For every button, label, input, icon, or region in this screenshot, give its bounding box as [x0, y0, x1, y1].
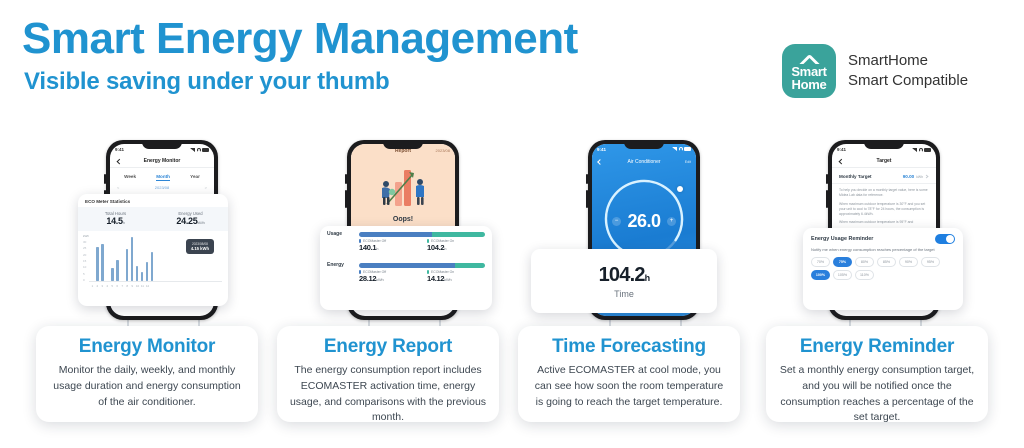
caption-card-energy-reminder: Energy Reminder Set a monthly energy con… — [766, 326, 988, 422]
dial-handle[interactable] — [677, 186, 683, 192]
chart-bar — [131, 237, 134, 281]
chart-y-tick: 15 — [83, 259, 86, 263]
energy-split-bar — [359, 263, 485, 268]
percentage-chip[interactable]: 105% — [833, 270, 852, 280]
chart-tooltip: 2023/08/08 4.15 kWh — [186, 239, 214, 254]
chart-bar — [101, 244, 104, 281]
kpi-total-hours: Total Hours 14.5h — [78, 207, 153, 231]
percentage-chip[interactable]: 75% — [833, 257, 852, 267]
legend-off: ECOMaster Off 140.1h — [359, 239, 417, 252]
caption-title: Energy Report — [289, 336, 487, 358]
bar-segment-off — [359, 263, 455, 268]
smarthome-logo-icon: Smart Home — [782, 44, 836, 98]
legend-value: 14.12kWh — [427, 274, 485, 283]
reminder-title: Energy Usage Reminder — [811, 236, 873, 242]
chart-x-label: 4 — [106, 284, 109, 288]
chart-x-label: 1 — [91, 284, 94, 288]
oops-heading: Oops! — [351, 216, 455, 223]
chart-x-label: 3 — [101, 284, 104, 288]
phone-notch — [864, 140, 904, 149]
chart-bar — [146, 262, 149, 281]
chart-y-tick: 25 — [83, 246, 86, 250]
percentage-chip[interactable]: 95% — [921, 257, 940, 267]
chart-bar — [136, 266, 139, 281]
temperature-value: 26.0 — [598, 211, 690, 232]
usage-legend: ECOMaster Off 140.1h ECOMaster On 104.2h — [320, 239, 492, 257]
reminder-description: Notify me when energy consumption reache… — [803, 247, 963, 257]
chart-x-label: 9 — [131, 284, 134, 288]
brand-lockup: Smart Home SmartHome Smart Compatible — [782, 44, 968, 98]
roof-chevron-icon — [793, 53, 825, 64]
signal-icon — [672, 147, 677, 151]
chart-bar — [126, 249, 129, 281]
percentage-chip[interactable]: 100% — [811, 270, 830, 280]
energy-row: Energy — [320, 257, 492, 270]
tooltip-value: 4.15 kWh — [191, 246, 209, 251]
nav-title: Air Conditioner — [627, 159, 660, 165]
time-forecast-card: 104.2h Time — [531, 249, 717, 313]
nav-bar: Energy Monitor — [110, 155, 214, 168]
status-time: 9:41 — [837, 147, 846, 152]
chevron-right-icon — [925, 174, 929, 179]
percentage-chip[interactable]: 110% — [855, 270, 874, 280]
legend-value: 140.1h — [359, 243, 417, 252]
legend-on: ECOMaster On 104.2h — [427, 239, 485, 252]
kpi-value: 14.5h — [78, 216, 153, 226]
status-time: 9:41 — [597, 147, 606, 152]
bar-segment-on — [455, 263, 485, 268]
chart-x-label: 11 — [141, 284, 144, 288]
brand-name-line-2: Smart Compatible — [848, 71, 968, 91]
wifi-icon — [197, 148, 201, 152]
period-segmented-control[interactable]: Week Month Year — [110, 168, 214, 184]
bar-segment-on — [432, 232, 485, 237]
chart-x-label: 8 — [126, 284, 129, 288]
status-indicators — [912, 148, 931, 152]
chart-bar — [116, 260, 119, 281]
legend-value: 104.2h — [427, 243, 485, 252]
segment-year[interactable]: Year — [190, 174, 200, 181]
chart-bar — [141, 272, 144, 281]
forecast-label: Time — [531, 289, 717, 299]
forecast-value: 104.2h — [531, 264, 717, 287]
infographic-canvas: Smart Energy Management Visible saving u… — [0, 0, 1024, 448]
reminder-toggle[interactable] — [935, 234, 955, 244]
kpi-row: Total Hours 14.5h Energy Used 24.25kWh — [78, 207, 228, 231]
page-subtitle: Visible saving under your thumb — [24, 68, 389, 96]
percentage-chip[interactable]: 80% — [855, 257, 874, 267]
phone-notch — [383, 140, 423, 149]
row-label: Usage — [327, 231, 353, 237]
nav-bar: Target — [832, 155, 936, 168]
card-title: ECO Meter Statistics — [78, 194, 228, 207]
edit-button[interactable]: Edit — [685, 160, 691, 164]
target-help-text: To help you decide on a monthly target v… — [832, 184, 936, 226]
battery-icon — [202, 148, 209, 152]
monthly-target-label: Monthly Target — [839, 174, 872, 179]
back-icon[interactable] — [117, 159, 123, 165]
phone-notch — [624, 140, 664, 149]
caption-text: Active ECOMASTER at cool mode, you can s… — [530, 363, 728, 410]
signal-icon — [190, 148, 195, 152]
caption-text: Monitor the daily, weekly, and monthly u… — [48, 363, 246, 410]
segment-month[interactable]: Month — [156, 174, 170, 181]
prev-period-button[interactable]: < — [117, 185, 119, 190]
caption-text: The energy consumption report includes E… — [289, 363, 487, 426]
logo-line-2: Home — [782, 77, 836, 92]
usage-bar-chart: kWh 2023/08/08 4.15 kWh 123456789101112 … — [78, 231, 228, 295]
help-paragraph: To help you decide on a monthly target v… — [839, 188, 929, 199]
chart-x-label: 5 — [111, 284, 114, 288]
page-title: Smart Energy Management — [22, 14, 578, 64]
wifi-icon — [679, 147, 683, 151]
chart-bar — [151, 252, 154, 281]
back-icon[interactable] — [839, 159, 845, 165]
kpi-value: 24.25kWh — [153, 216, 228, 226]
usage-split-bar — [359, 232, 485, 237]
chart-bar — [111, 268, 114, 281]
percentage-chip[interactable]: 70% — [811, 257, 830, 267]
energy-report-card: Usage ECOMaster Off 140.1h ECOMaster On … — [320, 226, 492, 310]
energy-legend: ECOMaster Off 28.12kWh ECOMaster On 14.1… — [320, 270, 492, 288]
chart-y-tick: 20 — [83, 253, 86, 257]
chart-y-tick: 10 — [83, 265, 86, 269]
chart-x-label: 6 — [116, 284, 119, 288]
chart-x-label: 10 — [136, 284, 139, 288]
legend-on: ECOMaster On 14.12kWh — [427, 270, 485, 283]
chart-x-labels: 123456789101112 — [89, 284, 222, 288]
segment-week[interactable]: Week — [124, 174, 136, 181]
help-paragraph: When maximum outdoor temperature is 30°F… — [839, 202, 929, 218]
kpi-energy-used: Energy Used 24.25kWh — [153, 207, 228, 231]
eco-meter-statistics-card: ECO Meter Statistics Total Hours 14.5h E… — [78, 194, 228, 306]
nav-title: Energy Monitor — [144, 158, 181, 164]
monthly-target-row[interactable]: Monthly Target 90.00kWh — [832, 168, 936, 184]
status-indicators — [190, 148, 209, 152]
next-period-button[interactable]: > — [205, 185, 207, 190]
battery-icon — [684, 147, 691, 151]
chart-x-label: 12 — [146, 284, 149, 288]
energy-usage-reminder-card: Energy Usage Reminder Notify me when ene… — [803, 228, 963, 310]
brand-name: SmartHome Smart Compatible — [848, 51, 968, 92]
caption-text: Set a monthly energy consumption target,… — [778, 363, 976, 426]
bar-segment-off — [359, 232, 432, 237]
signal-icon — [912, 148, 917, 152]
reminder-header: Energy Usage Reminder — [803, 228, 963, 247]
chart-x-label: 2 — [96, 284, 99, 288]
caption-title: Energy Reminder — [778, 336, 976, 358]
current-period-label: 2023/08 — [155, 185, 169, 190]
monthly-target-value[interactable]: 90.00kWh — [903, 174, 929, 179]
tooltip-date: 2023/08/08 — [191, 242, 209, 246]
caption-card-time-forecasting: Time Forecasting Active ECOMASTER at coo… — [518, 326, 740, 422]
nav-title: Target — [877, 158, 892, 164]
status-indicators — [672, 147, 691, 152]
caption-card-energy-monitor: Energy Monitor Monitor the daily, weekly… — [36, 326, 258, 422]
battery-icon — [924, 148, 931, 152]
back-icon[interactable] — [597, 159, 603, 165]
phone-notch — [142, 140, 182, 149]
wifi-icon — [919, 148, 923, 152]
chart-x-label: 7 — [121, 284, 124, 288]
status-time: 9:41 — [115, 147, 124, 152]
chart-y-tick: 5 — [83, 272, 85, 276]
hero-period: 2023/08 — [436, 148, 450, 153]
percentage-chip[interactable]: 85% — [877, 257, 896, 267]
help-paragraph: When maximum outdoor temperature is 95°F… — [839, 220, 929, 225]
usage-row: Usage — [320, 226, 492, 239]
nav-bar: Air Conditioner Edit — [592, 155, 696, 168]
caption-title: Energy Monitor — [48, 336, 246, 358]
percentage-chip-group[interactable]: 70%75%80%85%90%95%100%105%110% — [803, 257, 963, 287]
chart-y-tick: 0 — [83, 278, 85, 282]
row-label: Energy — [327, 262, 353, 268]
legend-off: ECOMaster Off 28.12kWh — [359, 270, 417, 283]
caption-card-energy-report: Energy Report The energy consumption rep… — [277, 326, 499, 422]
legend-value: 28.12kWh — [359, 274, 417, 283]
percentage-chip[interactable]: 90% — [899, 257, 918, 267]
chart-bar — [96, 247, 99, 281]
chart-y-tick: 30 — [83, 240, 86, 244]
illustration-people-chart — [351, 162, 455, 212]
brand-name-line-1: SmartHome — [848, 51, 968, 71]
caption-title: Time Forecasting — [530, 336, 728, 358]
